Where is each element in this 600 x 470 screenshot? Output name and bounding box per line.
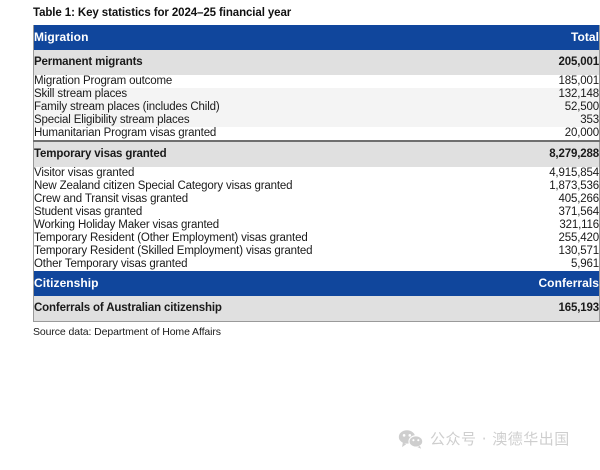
row-label: Temporary Resident (Other Employment) vi… [34,232,450,245]
row-label: Permanent migrants [34,50,450,75]
row-value: 255,420 [449,232,600,245]
table-body: MigrationTotalPermanent migrants205,001M… [34,25,600,322]
section-header-row: MigrationTotal [34,25,600,50]
watermark-text: 公众号 · 澳德华出国 [430,428,570,449]
row-value: 165,193 [449,296,600,322]
table-row: Temporary Resident (Skilled Employment) … [34,245,600,258]
row-value: 132,148 [449,88,600,101]
row-value: 185,001 [449,75,600,88]
row-label: Visitor visas granted [34,167,450,180]
row-label: Student visas granted [34,206,450,219]
table-row: Temporary visas granted8,279,288 [34,141,600,167]
watermark-overlay: 公众号 · 澳德华出国 [398,428,570,449]
row-label: Crew and Transit visas granted [34,193,450,206]
row-label: Other Temporary visas granted [34,258,450,271]
row-value: 4,915,854 [449,167,600,180]
row-label: Temporary Resident (Skilled Employment) … [34,245,450,258]
wechat-logo-icon [398,429,424,449]
table-row: Crew and Transit visas granted405,266 [34,193,600,206]
key-statistics-table: MigrationTotalPermanent migrants205,001M… [33,25,600,322]
row-label: Migration Program outcome [34,75,450,88]
source-note: Source data: Department of Home Affairs [8,322,592,339]
row-value: 130,571 [449,245,600,258]
row-value: 52,500 [449,101,600,114]
row-label: New Zealand citizen Special Category vis… [34,180,450,193]
row-label: Skill stream places [34,88,450,101]
table-row: Permanent migrants205,001 [34,50,600,75]
row-label: Conferrals of Australian citizenship [34,296,450,322]
row-value: 353 [449,114,600,127]
table-row: Temporary Resident (Other Employment) vi… [34,232,600,245]
section-header-value: Total [449,25,600,50]
row-label: Humanitarian Program visas granted [34,127,450,141]
row-label: Family stream places (includes Child) [34,101,450,114]
row-value: 5,961 [449,258,600,271]
row-label: Special Eligibility stream places [34,114,450,127]
table-row: Working Holiday Maker visas granted321,1… [34,219,600,232]
row-label: Working Holiday Maker visas granted [34,219,450,232]
row-value: 8,279,288 [449,141,600,167]
row-label: Temporary visas granted [34,141,450,167]
page-title: Table 1: Key statistics for 2024–25 fina… [8,4,592,25]
row-value: 321,116 [449,219,600,232]
section-header-label: Citizenship [34,271,450,296]
row-value: 1,873,536 [449,180,600,193]
row-value: 205,001 [449,50,600,75]
table-row: Humanitarian Program visas granted20,000 [34,127,600,141]
section-header-value: Conferrals [449,271,600,296]
row-value: 371,564 [449,206,600,219]
table-row: Conferrals of Australian citizenship165,… [34,296,600,322]
table-row: New Zealand citizen Special Category vis… [34,180,600,193]
section-header-row: CitizenshipConferrals [34,271,600,296]
table-page: Table 1: Key statistics for 2024–25 fina… [0,0,600,470]
table-row: Family stream places (includes Child)52,… [34,101,600,114]
table-row: Special Eligibility stream places353 [34,114,600,127]
row-value: 405,266 [449,193,600,206]
row-value: 20,000 [449,127,600,141]
table-row: Student visas granted371,564 [34,206,600,219]
table-row: Visitor visas granted4,915,854 [34,167,600,180]
section-header-label: Migration [34,25,450,50]
table-row: Other Temporary visas granted5,961 [34,258,600,271]
table-row: Skill stream places132,148 [34,88,600,101]
table-row: Migration Program outcome185,001 [34,75,600,88]
